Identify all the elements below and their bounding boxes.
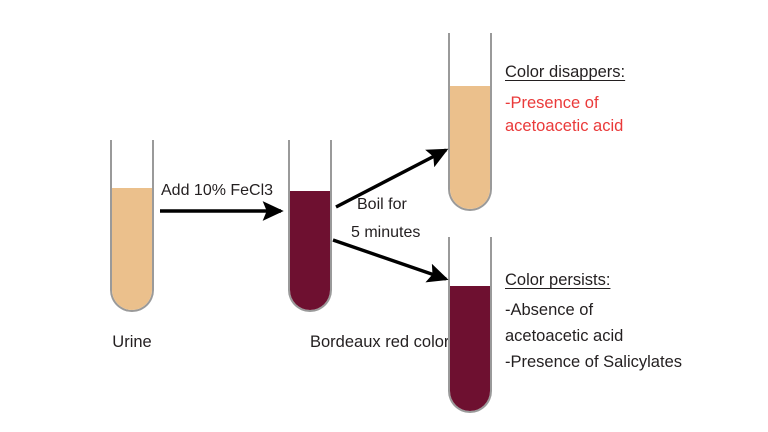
result-top-test-tube [448,33,492,211]
urine-test-tube [110,140,154,312]
result-bottom-tube-liquid [450,286,490,411]
top-annotation-line-1: -Presence of [505,92,599,116]
bottom-annotation-line-2: acetoacetic acid [505,325,623,349]
top-annotation-heading: Color disappers: [505,63,625,82]
result-bottom-test-tube [448,237,492,413]
boil-arrow-label-line1: Boil for [357,194,407,217]
urine-tube-caption: Urine [110,333,154,352]
reagent-arrow-label: Add 10% FeCl3 [161,180,273,203]
bordeaux-test-tube [288,140,332,312]
bottom-annotation-heading: Color persists: [505,271,610,290]
bordeaux-tube-liquid [290,191,330,310]
result-top-tube-liquid [450,86,490,209]
bottom-annotation-line-1: -Absence of [505,299,593,323]
diagram-canvas: Urine Bordeaux red color Add 10% FeCl3 B… [0,0,768,432]
bottom-annotation-line-3: -Presence of Salicylates [505,351,682,375]
boil-arrow-down-line [333,240,446,279]
urine-tube-liquid [112,188,152,310]
top-annotation-line-2: acetoacetic acid [505,115,623,139]
boil-arrow-label-line2: 5 minutes [351,222,420,245]
